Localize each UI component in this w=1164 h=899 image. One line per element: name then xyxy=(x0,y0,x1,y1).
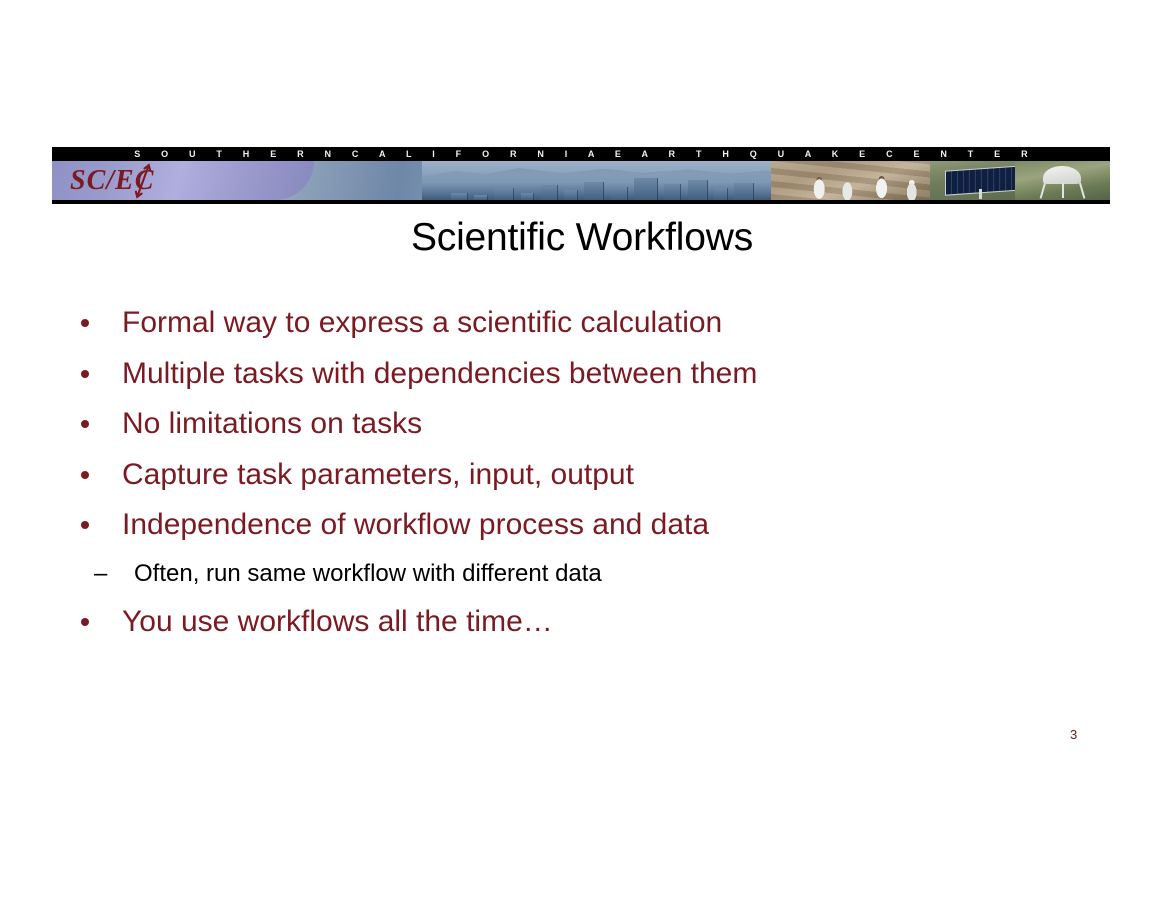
scec-logo: SC/EC xyxy=(70,163,220,199)
bullet-dash-icon: – xyxy=(94,551,107,597)
scec-logo-plate: SC/EC xyxy=(52,161,314,200)
bullet-text: Formal way to express a scientific calcu… xyxy=(122,306,722,339)
bullet-dot-icon xyxy=(81,618,89,626)
sub-bullet-item: – Often, run same workflow with differen… xyxy=(72,551,1092,597)
page-number: 3 xyxy=(1070,727,1077,742)
tripod-leg xyxy=(1079,183,1085,199)
building xyxy=(451,193,468,201)
building xyxy=(664,184,681,200)
bullet-item: You use workflows all the time… xyxy=(72,597,1092,648)
bullet-dot-icon xyxy=(81,370,89,378)
building xyxy=(584,182,604,200)
bullet-text: Capture task parameters, input, output xyxy=(122,458,634,491)
bullet-dot-icon xyxy=(81,319,89,327)
bullet-text: You use workflows all the time… xyxy=(122,605,553,638)
bullet-text: Independence of workflow process and dat… xyxy=(122,508,709,541)
bullet-item: Capture task parameters, input, output xyxy=(72,450,1092,501)
skyline-buildings xyxy=(445,171,778,200)
los-angeles-skyline-photo xyxy=(422,161,792,200)
gps-antenna-photo xyxy=(1015,161,1110,200)
building xyxy=(494,188,514,200)
slide-title: Scientific Workflows xyxy=(0,216,1164,260)
building xyxy=(611,187,628,200)
bullet-item: Multiple tasks with dependencies between… xyxy=(72,349,1092,400)
solar-panel-post xyxy=(979,189,982,199)
bullet-item: No limitations on tasks xyxy=(72,399,1092,450)
solar-panel-array xyxy=(945,165,1023,195)
gps-antenna-tripod xyxy=(1041,183,1083,199)
tripod-leg xyxy=(1040,183,1046,199)
building xyxy=(688,180,708,200)
building xyxy=(521,193,534,200)
tripod-leg xyxy=(1062,183,1064,199)
building xyxy=(541,185,558,200)
bullet-dot-icon xyxy=(81,521,89,529)
building xyxy=(564,190,577,200)
bullet-text: Multiple tasks with dependencies between… xyxy=(122,357,757,390)
banner-organization-title: S O U T H E R N C A L I F O R N I A E A … xyxy=(52,147,1110,161)
building xyxy=(734,183,754,200)
bullet-dot-icon xyxy=(81,471,89,479)
banner-bottom-bar xyxy=(52,200,1110,204)
bullet-item: Formal way to express a scientific calcu… xyxy=(72,298,1092,349)
bullet-text: No limitations on tasks xyxy=(122,407,422,440)
slide-body: Formal way to express a scientific calcu… xyxy=(72,298,1092,647)
scec-banner: S O U T H E R N C A L I F O R N I A E A … xyxy=(52,147,1110,204)
building xyxy=(634,178,657,201)
building xyxy=(714,188,727,200)
gps-antenna-dome xyxy=(1043,166,1081,183)
bullet-item: Independence of workflow process and dat… xyxy=(72,500,1092,551)
sub-bullet-text: Often, run same workflow with different … xyxy=(134,560,602,587)
bullet-dot-icon xyxy=(81,420,89,428)
fault-slip-arrow-icon xyxy=(131,162,155,200)
